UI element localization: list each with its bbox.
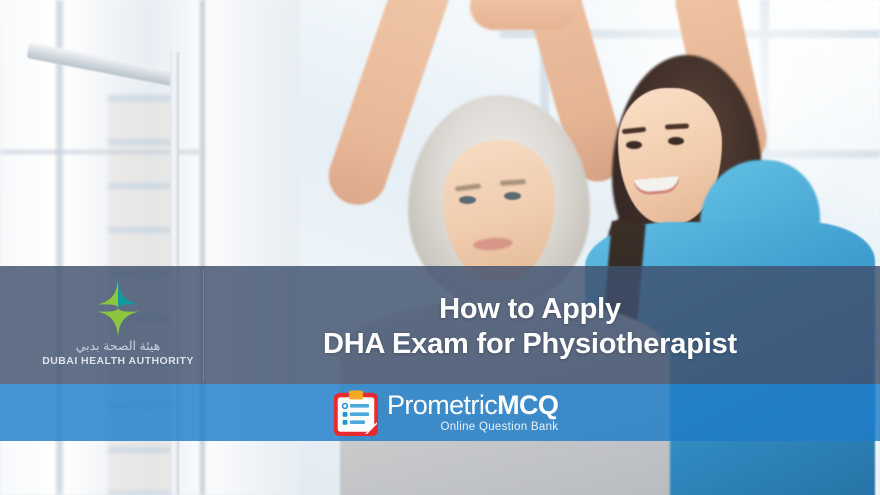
dha-logo: هيئة الصحة بدبي DUBAI HEALTH AUTHORITY <box>48 278 188 380</box>
hero-banner: هيئة الصحة بدبي DUBAI HEALTH AUTHORITY H… <box>0 0 880 495</box>
four-pointed-star-icon <box>87 278 149 338</box>
patient-eye <box>504 192 521 200</box>
dha-english-name: DUBAI HEALTH AUTHORITY <box>42 355 194 367</box>
brand-name: PrometricMCQ <box>387 392 558 419</box>
headline-line-2: DHA Exam for Physiotherapist <box>323 327 737 362</box>
brand-name-bold: MCQ <box>497 390 558 420</box>
logo-divider <box>203 270 204 382</box>
patient-face <box>443 140 555 280</box>
prometricmcq-logo[interactable]: PrometricMCQ Online Question Bank <box>334 388 558 438</box>
page-title: How to Apply DHA Exam for Physiotherapis… <box>215 281 845 373</box>
headline-line-1: How to Apply <box>439 292 621 327</box>
brand-name-light: Prometric <box>387 390 497 420</box>
therapist-eye <box>626 141 642 149</box>
patient-eye <box>459 196 476 204</box>
prometricmcq-wordmark: PrometricMCQ Online Question Bank <box>387 392 558 434</box>
clasped-hands <box>470 0 575 30</box>
brand-tagline: Online Question Bank <box>387 422 558 434</box>
dha-arabic-name: هيئة الصحة بدبي <box>76 340 161 354</box>
clipboard-checklist-icon <box>334 390 378 436</box>
therapist-eye <box>668 137 684 145</box>
